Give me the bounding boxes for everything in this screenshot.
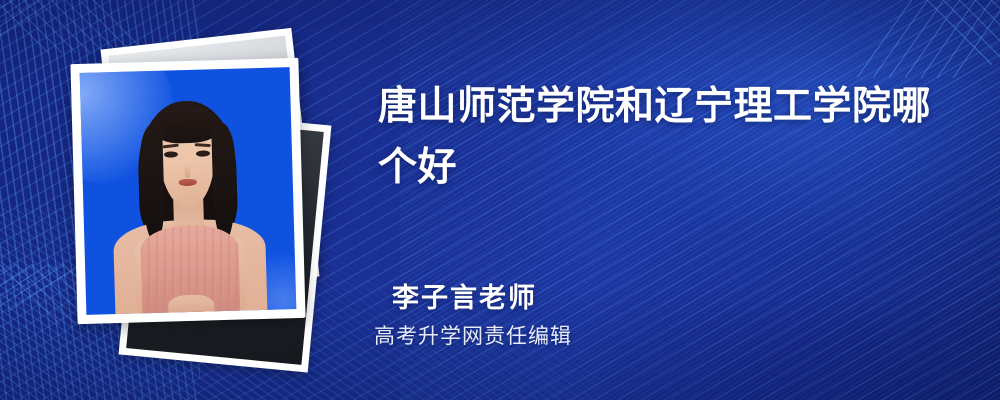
author-role: 高考升学网责任编辑 (374, 320, 572, 350)
article-cover-banner: 唐山师范学院和辽宁理工学院哪个好 李子言老师 高考升学网责任编辑 (0, 0, 1000, 400)
avatar (50, 28, 350, 368)
photo-card-front (70, 58, 305, 324)
author-name: 李子言老师 (392, 276, 537, 315)
portrait-photo (80, 67, 297, 315)
page-title: 唐山师范学院和辽宁理工学院哪个好 (378, 76, 948, 198)
portrait-person (80, 67, 297, 315)
